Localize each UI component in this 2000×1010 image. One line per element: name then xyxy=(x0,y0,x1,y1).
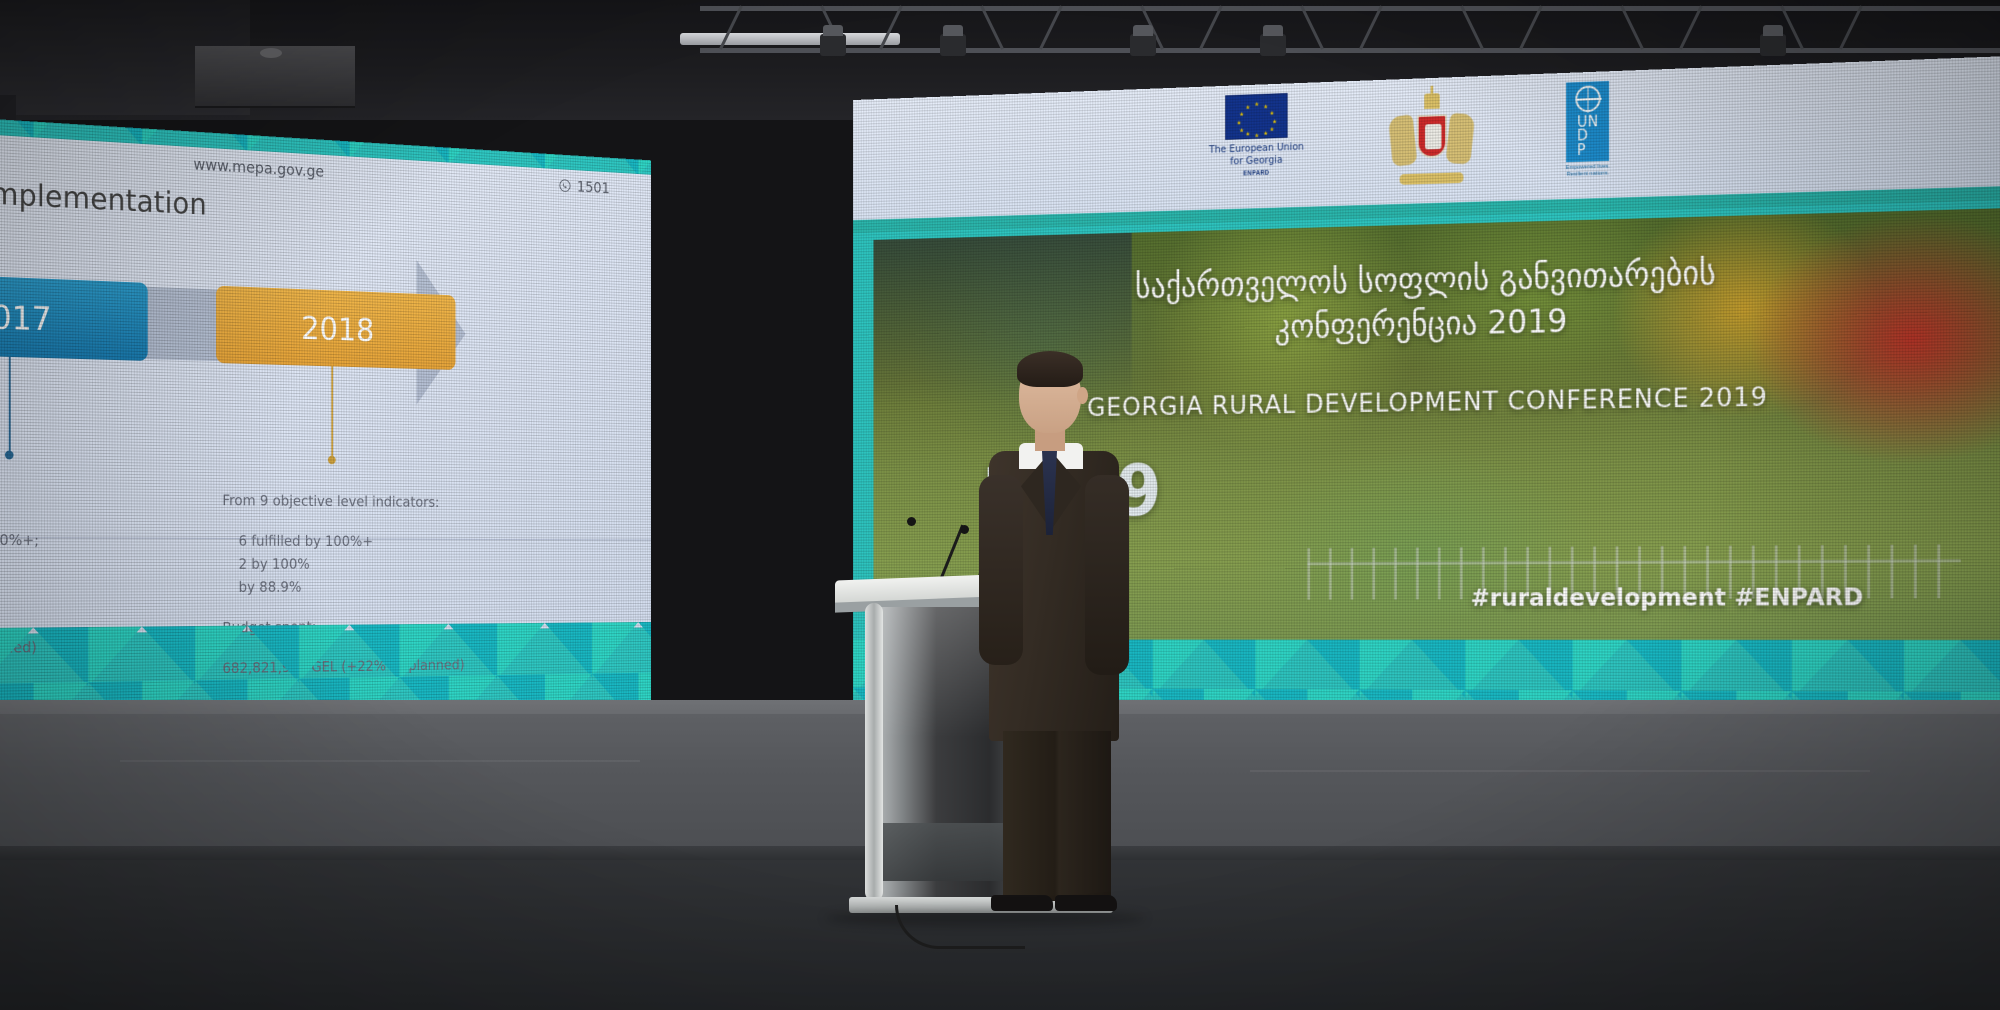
undp-logo-subcaption: Empowered lives. Resilient nations. xyxy=(1562,163,1614,179)
column-left-bullet: d by 100% or 100%+; xyxy=(0,527,202,552)
undp-logo: UNDP Empowered lives. Resilient nations. xyxy=(1562,81,1614,179)
eu-logo-subcaption: ENPARD xyxy=(1243,170,1269,177)
column-left-bullet: lled. xyxy=(0,576,202,601)
eu-flag-logo: The European Union for Georgia ENPARD xyxy=(1209,92,1304,178)
callout-stem-left xyxy=(9,357,11,455)
column-left-bullet: d partially; xyxy=(0,552,202,576)
year-pill-2017: 2017 xyxy=(0,272,148,361)
conference-photo-scene: ults of the Strategy Implementation 2017… xyxy=(0,0,2000,1010)
callout-dot-left xyxy=(5,450,14,459)
year-pill-2018: 2018 xyxy=(216,286,455,370)
audience-foreground xyxy=(0,760,2000,1010)
callout-stem-right xyxy=(331,366,333,459)
banner-hashtags: #ruraldevelopment #ENPARD xyxy=(1471,582,1864,611)
eu-flag-icon xyxy=(1225,93,1287,140)
column-left-heading: r level indicators: xyxy=(0,485,202,512)
phone-icon xyxy=(559,178,571,192)
slide-footer-url: www.mepa.gov.ge xyxy=(193,155,324,181)
column-right-heading: From 9 objective level indicators: xyxy=(222,489,588,515)
georgia-coat-of-arms-logo xyxy=(1382,86,1483,189)
slide-footer-phone: 1501 xyxy=(559,177,610,197)
coat-of-arms-icon xyxy=(1382,86,1483,189)
undp-icon: UNDP xyxy=(1566,81,1609,162)
callout-dot-right xyxy=(328,456,336,465)
slide-content-area: ults of the Strategy Implementation 2017… xyxy=(0,134,651,634)
column-right-bullet: 6 fulfilled by 100%+ xyxy=(239,529,589,553)
slide-footer-phone-number: 1501 xyxy=(577,178,610,197)
left-presentation-slide: ults of the Strategy Implementation 2017… xyxy=(0,118,651,728)
column-right-bullet: by 88.9% xyxy=(239,575,589,599)
column-right-bullet: 2 by 100% xyxy=(239,552,589,575)
